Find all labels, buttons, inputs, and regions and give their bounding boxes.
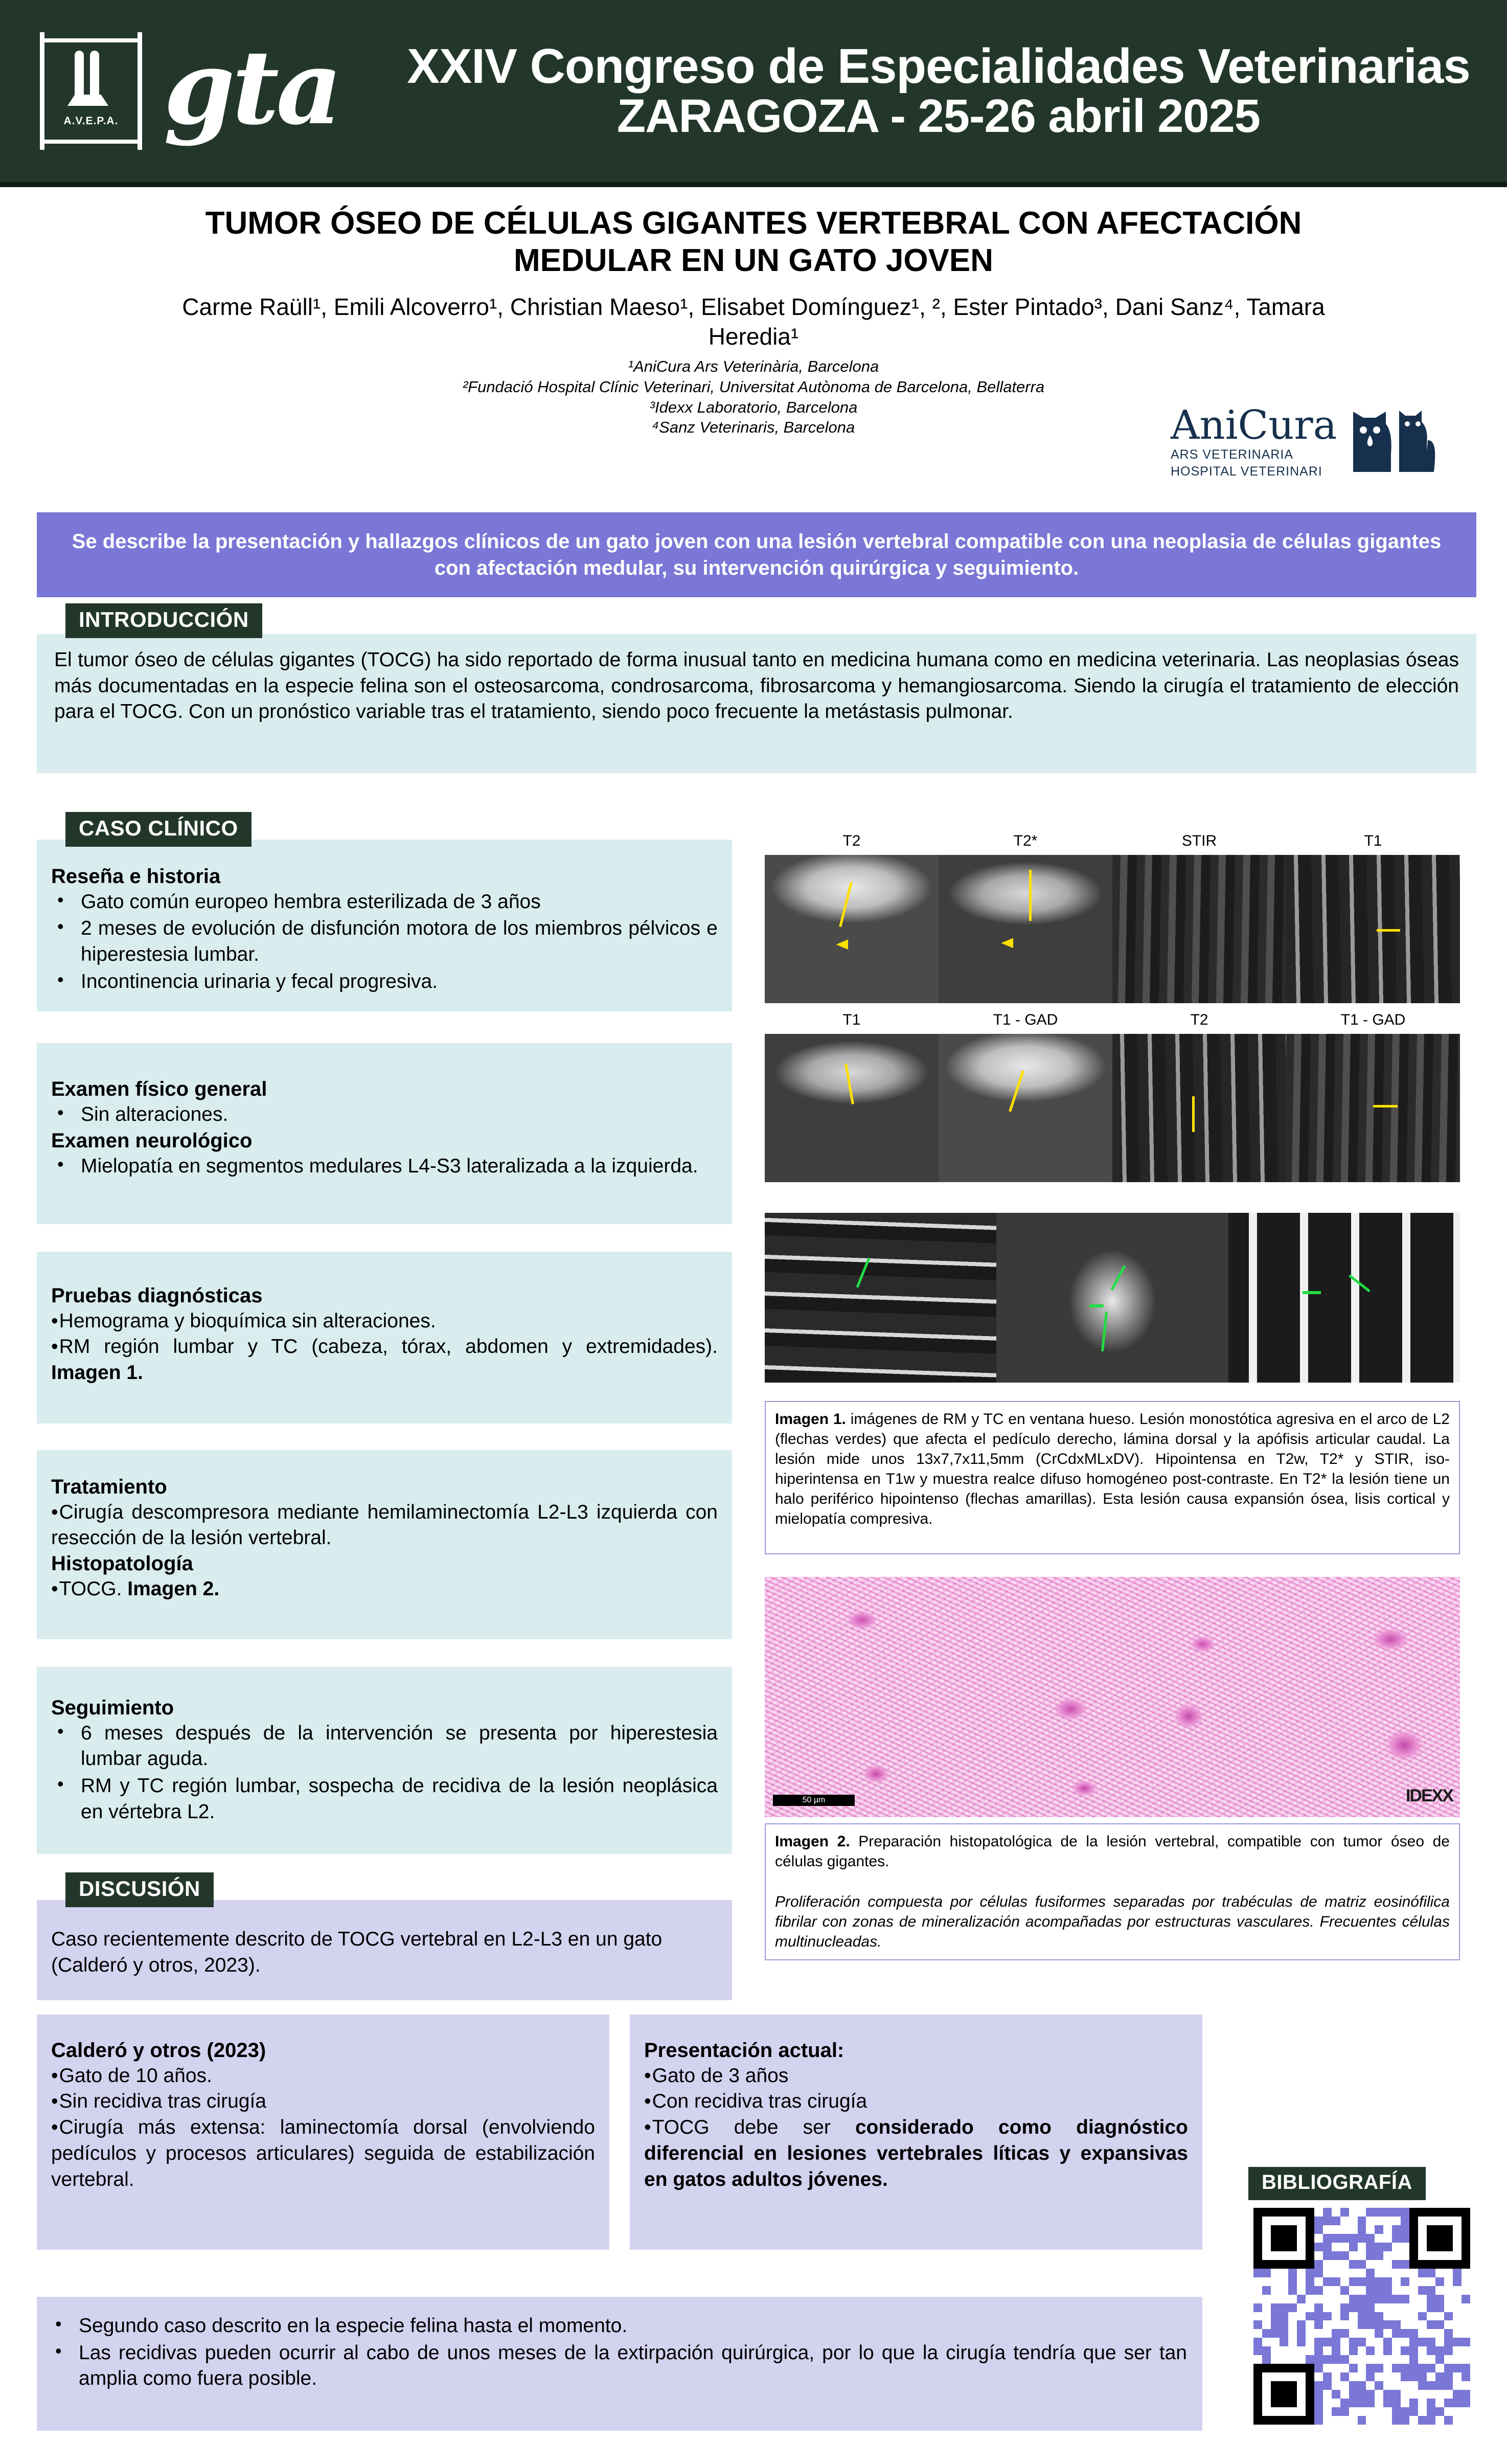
seguimiento-bullet-list: 6 meses después de la intervención se pr… [51,1721,718,1825]
pruebas-item-2: RM región lumbar y TC (cabeza, tórax, ab… [51,1334,718,1386]
section-tag-bibliografia: BIBLIOGRAFÍA [1248,2167,1426,2200]
ct-image-axial [996,1213,1228,1383]
comparison-right-item-2: Con recidiva tras cirugía [644,2089,1188,2115]
avepa-logo: A.V.E.P.A. [40,32,142,150]
list-item: RM y TC región lumbar, sospecha de recid… [51,1773,718,1825]
mri-image-t2 [765,855,939,1003]
ct-image-dorsal [1228,1213,1460,1383]
header-titles: XXIV Congreso de Especialidades Veterina… [401,41,1507,141]
mri-image-t1 [1286,855,1460,1003]
pruebas-image-ref: Imagen 1. [51,1362,143,1384]
dog-cat-icon [1344,400,1436,485]
mri-image-t1gad2-lower [1286,1034,1460,1182]
abstract-text: Se describe la presentación y hallazgos … [52,528,1461,581]
ct-image-sagittal [765,1213,996,1383]
imagen2-caption-body: Preparación histopatológica de la lesión… [775,1833,1450,1870]
histopatologia-image-ref: Imagen 2. [127,1578,219,1600]
histopatologia-heading: Histopatología [51,1551,718,1576]
abstract-banner: Se describe la presentación y hallazgos … [37,512,1476,597]
list-item: 2 meses de evolución de disfunción motor… [51,916,718,967]
mri-image-t2-lower [1112,1034,1286,1182]
comparison-right-heading: Presentación actual: [644,2038,1188,2063]
comparison-right-item-3: TOCG debe ser considerado como diagnósti… [644,2115,1188,2192]
imagen1-caption-box: Imagen 1. imágenes de RM y TC en ventana… [765,1401,1460,1554]
mri-label-t1-b: T1 [765,1011,939,1029]
pruebas-panel: Pruebas diagnósticas Hemograma y bioquím… [37,1252,732,1423]
mri-label-stir: STIR [1112,832,1286,850]
section-tag-discusion: DISCUSIÓN [65,1872,214,1907]
list-item: Incontinencia urinaria y fecal progresiv… [51,969,718,995]
congress-location-date: ZARAGOZA - 25-26 abril 2025 [401,92,1476,141]
resena-bullet-list: Gato común europeo hembra esterilizada d… [51,889,718,995]
tratamiento-panel: Tratamiento Cirugía descompresora median… [37,1450,732,1639]
comparison-panel-current: Presentación actual: Gato de 3 años Con … [630,2015,1202,2250]
tratamiento-heading: Tratamiento [51,1475,718,1500]
examen-neuro-heading: Examen neurológico [51,1128,718,1154]
introduccion-body: El tumor óseo de células gigantes (TOCG)… [37,634,1476,725]
header-banner: A.V.E.P.A. gta XXIV Congreso de Especial… [0,0,1507,187]
poster-title-line1: TUMOR ÓSEO DE CÉLULAS GIGANTES VERTEBRAL… [205,206,1302,241]
bibliography-qr-code[interactable] [1253,2208,1470,2425]
tratamiento-item-1: Cirugía descompresora mediante hemilamin… [51,1500,718,1551]
examen-panel: Examen físico general Sin alteraciones. … [37,1043,732,1224]
author-line-1: Carme Raüll¹, Emili Alcoverro¹, Christia… [182,293,1325,320]
introduccion-panel: El tumor óseo de células gigantes (TOCG)… [37,634,1476,773]
list-item: Segundo caso descrito en la especie feli… [49,2313,1187,2339]
comparison-right-item-1: Gato de 3 años [644,2063,1188,2089]
histology-image: 50 µm IDEXX [765,1577,1460,1817]
seguimiento-panel: Seguimiento 6 meses después de la interv… [37,1667,732,1854]
imagen1-caption-body: imágenes de RM y TC en ventana hueso. Le… [775,1411,1450,1527]
examen-fisico-heading: Examen físico general [51,1077,718,1102]
anicura-subtitle-2: HOSPITAL VETERINARI [1171,464,1337,479]
examen-fisico-bullet-list: Sin alteraciones. [51,1102,718,1128]
imagen1-caption-label: Imagen 1. [775,1411,846,1428]
resena-panel: Reseña e historia Gato común europeo hem… [37,840,732,1011]
seguimiento-heading: Seguimiento [51,1696,718,1721]
list-item: Mielopatía en segmentos medulares L4-S3 … [51,1154,718,1180]
comparison-panel-previous: Calderó y otros (2023) Gato de 10 años. … [37,2015,609,2250]
imagen1-caption: Imagen 1. imágenes de RM y TC en ventana… [775,1409,1450,1529]
author-line-2: Heredia¹ [709,323,798,350]
conclusions-bullet-list: Segundo caso descrito en la especie feli… [49,2313,1187,2392]
pruebas-heading: Pruebas diagnósticas [51,1283,718,1308]
imagen2-caption: Imagen 2. Preparación histopatológica de… [775,1832,1450,1871]
author-list: Carme Raüll¹, Emili Alcoverro¹, Christia… [77,292,1430,351]
imagen2-caption-box: Imagen 2. Preparación histopatológica de… [765,1823,1460,1960]
resena-heading: Reseña e historia [51,864,718,889]
mri-image-t2star [939,855,1112,1003]
mri-label-t2-b: T2 [1112,1011,1286,1029]
section-tag-caso-clinico: CASO CLÍNICO [65,812,252,847]
idexx-watermark: IDEXX [1406,1786,1453,1806]
mri-bottom-label-row: T1 T1 - GAD T2 T1 - GAD [765,1011,1460,1029]
list-item: 6 meses después de la intervención se pr… [51,1721,718,1772]
gta-logo: gta [164,46,339,130]
page-title: TUMOR ÓSEO DE CÉLULAS GIGANTES VERTEBRAL… [77,205,1430,279]
comparison-left-item-3: Cirugía más extensa: laminectomía dorsal… [51,2115,595,2192]
mri-image-stir [1112,855,1286,1003]
scalebar-label: 50 µm [773,1795,855,1806]
poster-title-line2: MEDULAR EN UN GATO JOVEN [514,243,993,278]
list-item: Las recidivas pueden ocurrir al cabo de … [49,2340,1187,2392]
discusion-body: Caso recientemente descrito de TOCG vert… [37,1900,732,1978]
ct-strip [765,1213,1460,1383]
poster-root: A.V.E.P.A. gta XXIV Congreso de Especial… [0,0,1507,2464]
anicura-subtitle-1: ARS VETERINARIA [1171,447,1337,462]
comparison-right-normal: TOCG debe ser [652,2116,855,2138]
comparison-left-item-2: Sin recidiva tras cirugía [51,2089,595,2115]
imagen2-caption-label: Imagen 2. [775,1833,850,1850]
mri-strip-top [765,855,1460,1003]
avepa-tower-icon [66,51,116,111]
discusion-panel: Caso recientemente descrito de TOCG vert… [37,1900,732,2000]
anicura-logo: AniCura ARS VETERINARIA HOSPITAL VETERIN… [1171,394,1457,491]
pruebas-item-1: Hemograma y bioquímica sin alteraciones. [51,1308,718,1335]
comparison-left-item-1: Gato de 10 años. [51,2063,595,2089]
histopatologia-item-1: TOCG. Imagen 2. [51,1576,718,1602]
comparison-left-heading: Calderó y otros (2023) [51,2038,595,2063]
congress-title: XXIV Congreso de Especialidades Veterina… [401,41,1476,92]
mri-strip-bottom [765,1034,1460,1182]
mri-label-t1gad-b: T1 - GAD [939,1011,1112,1029]
examen-neuro-bullet-list: Mielopatía en segmentos medulares L4-S3 … [51,1154,718,1180]
imagen2-caption-italic: Proliferación compuesta por células fusi… [775,1892,1450,1952]
mri-image-t1-lower [765,1034,939,1182]
anicura-wordmark: AniCura [1171,405,1337,445]
conclusions-panel: Segundo caso descrito en la especie feli… [37,2297,1202,2431]
affiliation-1: ¹AniCura Ars Veterinària, Barcelona [77,356,1430,377]
section-tag-introduccion: INTRODUCCIÓN [65,603,262,638]
mri-top-label-row: T2 T2* STIR T1 [765,832,1460,850]
mri-label-t1gad2-b: T1 - GAD [1286,1011,1460,1029]
mri-label-t1: T1 [1286,832,1460,850]
avepa-label: A.V.E.P.A. [64,115,119,127]
mri-image-t1gad-lower [939,1034,1112,1182]
list-item: Sin alteraciones. [51,1102,718,1128]
mri-label-t2: T2 [765,832,939,850]
mri-label-t2star: T2* [939,832,1112,850]
list-item: Gato común europeo hembra esterilizada d… [51,889,718,915]
